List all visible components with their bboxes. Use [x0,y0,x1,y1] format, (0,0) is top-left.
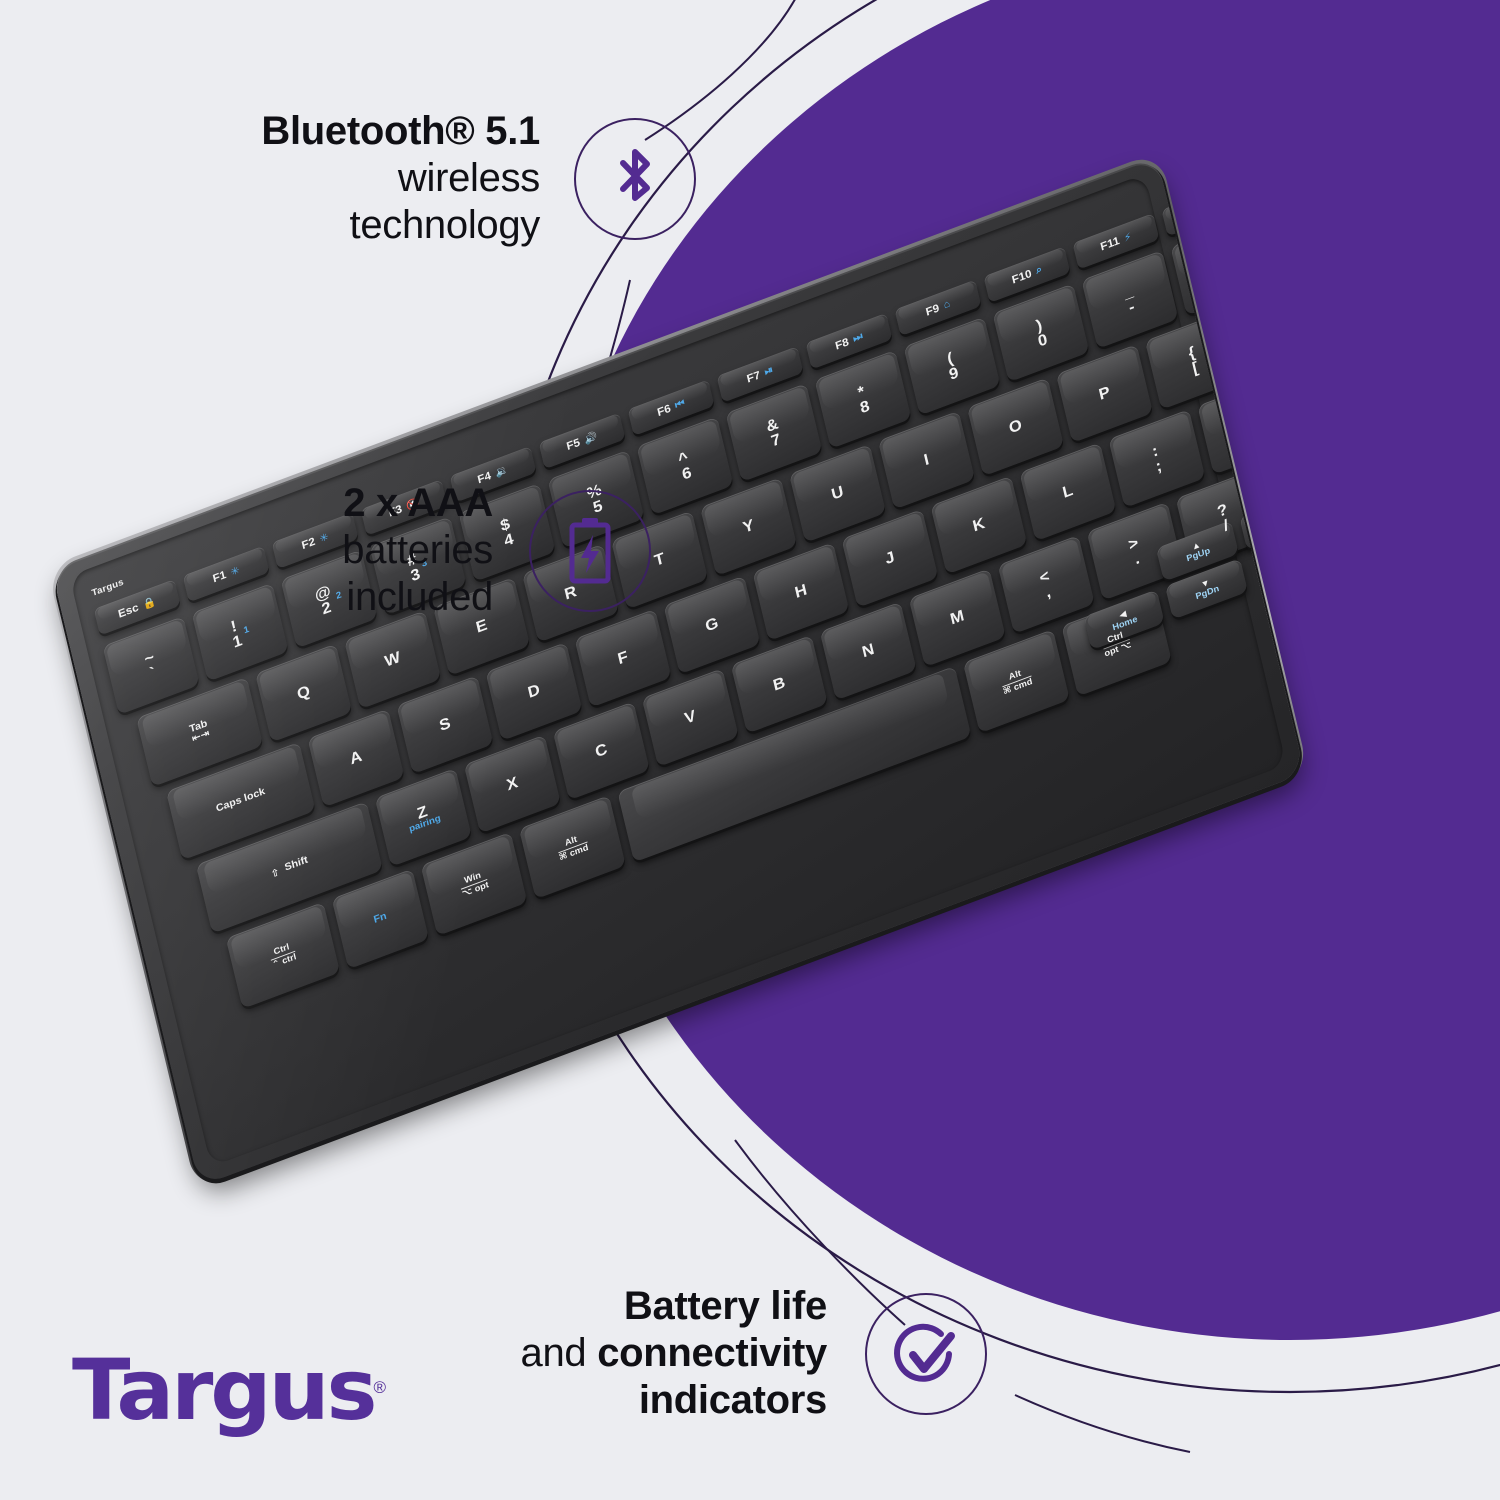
next-track-icon: ⏭ [852,330,864,345]
shift-arrow-icon: ⇧ [269,865,280,880]
brightness-down-icon: ✳ [229,563,240,578]
connector-line-indicators-right [1015,1395,1190,1452]
callout-batteries-text: 2 x AAA batteries included [268,480,493,622]
callout-batteries-line1: 2 x AAA [268,480,493,527]
callout-indicators-line1: Battery life [492,1283,827,1330]
callout-batteries: 2 x AAA batteries included [268,480,651,622]
callout-indicators-line2-prefix: and [521,1331,598,1375]
previous-track-icon: ⏮ [674,397,686,412]
callout-bluetooth-text: Bluetooth® 5.1 wireless technology [250,108,540,250]
callout-indicators-line2: and connectivity [492,1330,827,1377]
callout-bluetooth-line2: wireless [250,155,540,202]
callout-indicators-line3: indicators [492,1377,827,1424]
bluetooth-icon [607,144,663,214]
callout-indicators-line2-bold: connectivity [597,1331,827,1375]
callout-bluetooth-line1: Bluetooth® 5.1 [250,108,540,155]
registered-trademark-icon: ® [374,1378,387,1398]
search-icon: ⌕ [1035,263,1044,277]
volume-up-icon: 🔊 [583,429,599,445]
callout-batteries-line3: included [268,574,493,621]
battery-icon [560,513,620,589]
home-icon: ⌂ [942,298,951,311]
fn-lock-icon: 🔒 [142,595,158,611]
check-circle-icon [889,1317,963,1391]
product-feature-image: Targus Esc 🔒 F1 ✳ F2 ✳ F3 🔇 [0,0,1500,1500]
check-circle-icon-circle [865,1293,987,1415]
power-icon: ⚡ [1123,230,1133,244]
volume-down-icon: 🔉 [494,463,510,479]
callout-indicators-text: Battery life and connectivity indicators [492,1283,827,1425]
battery-icon-circle [529,490,651,612]
callout-bluetooth: Bluetooth® 5.1 wireless technology [250,108,696,250]
targus-logo: Targus ® [72,1348,386,1432]
callout-bluetooth-line3: technology [250,202,540,249]
targus-logo-text: Targus [72,1348,374,1432]
bluetooth-icon-circle [574,118,696,240]
bluetooth-channel-1-icon: 1 [243,624,251,636]
callout-indicators: Battery life and connectivity indicators [492,1283,987,1425]
callout-batteries-line2: batteries [268,527,493,574]
play-pause-icon: ⏯ [763,364,774,379]
